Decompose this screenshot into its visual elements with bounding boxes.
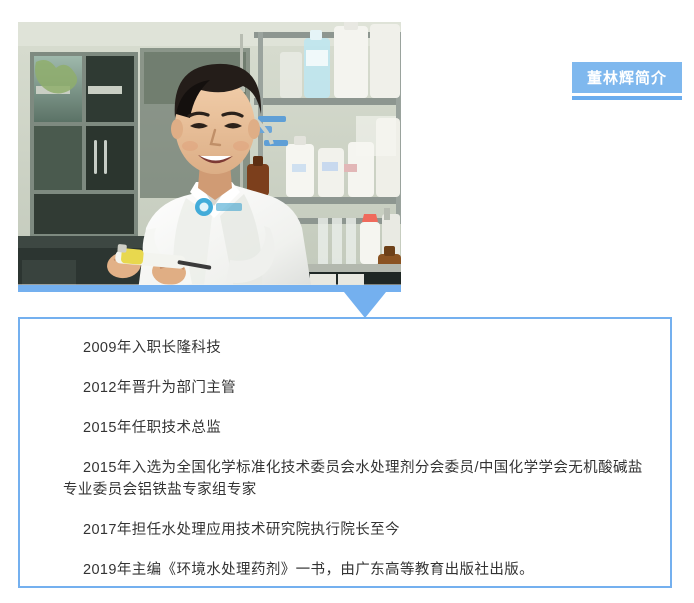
bio-line-4: 2015年入选为全国化学标准化技术委员会水处理剂分会委员/中国化学学会无机酸碱盐…	[63, 457, 650, 501]
profile-title-text: 董林辉简介	[587, 67, 667, 88]
biography-content: 2009年入职长隆科技 2012年晋升为部门主管 2015年任职技术总监 201…	[63, 337, 650, 581]
bio-line-5: 2017年担任水处理应用技术研究院执行院长至今	[63, 519, 650, 541]
pointer-triangle-icon	[344, 292, 386, 318]
bio-line-2: 2012年晋升为部门主管	[63, 377, 650, 399]
profile-photo	[18, 22, 401, 291]
bio-line-6: 2019年主编《环境水处理药剂》一书，由广东高等教育出版社出版。	[63, 559, 650, 581]
profile-title-underline	[572, 96, 682, 100]
photo-bottom-accent-bar	[18, 285, 401, 292]
biography-box: 2009年入职长隆科技 2012年晋升为部门主管 2015年任职技术总监 201…	[18, 317, 672, 588]
profile-photo-image	[18, 22, 401, 291]
profile-title-badge: 董林辉简介	[572, 62, 682, 93]
bio-line-3: 2015年任职技术总监	[63, 417, 650, 439]
bio-line-1: 2009年入职长隆科技	[63, 337, 650, 359]
